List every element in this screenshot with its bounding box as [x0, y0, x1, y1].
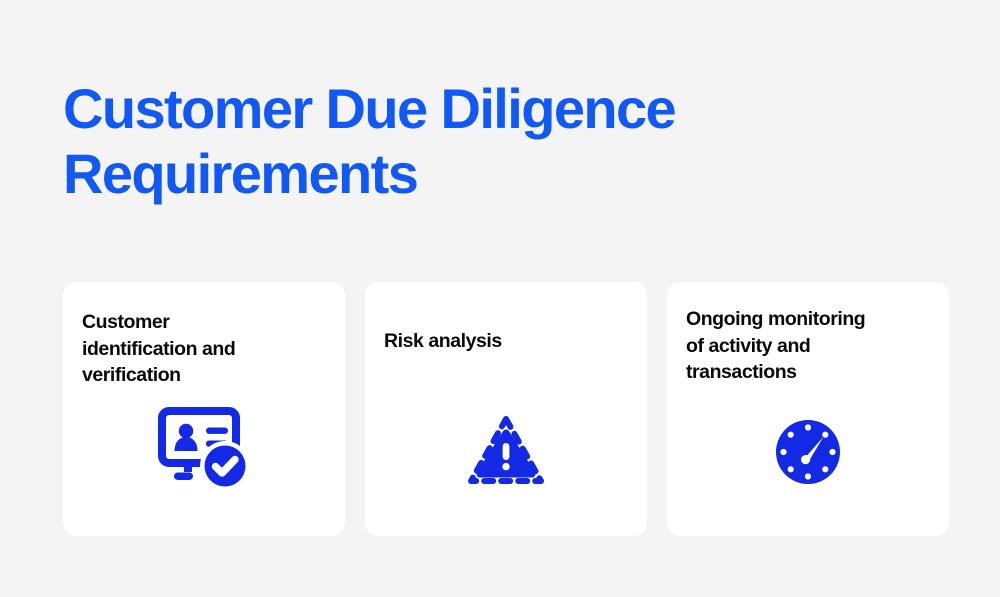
gauge-speedometer-icon [773, 417, 843, 487]
card-title: Risk analysis [384, 328, 633, 355]
id-card-verified-icon [156, 406, 252, 490]
card-icon-slot [667, 408, 949, 496]
requirement-card-ongoing-monitoring: Ongoing monitoring of activity and trans… [667, 282, 949, 536]
card-icon-slot [63, 400, 345, 496]
card-title: Ongoing monitoring of activity and trans… [686, 306, 935, 386]
requirements-card-list: Customer identification and verification [63, 282, 949, 536]
page-title: Customer Due Diligence Requirements [63, 76, 823, 206]
requirement-card-risk-analysis: Risk analysis [365, 282, 647, 536]
card-title: Customer identification and verification [82, 309, 331, 389]
card-icon-slot [365, 406, 647, 498]
requirement-card-customer-identification: Customer identification and verification [63, 282, 345, 536]
warning-triangle-icon [465, 412, 547, 492]
infographic-page: Customer Due Diligence Requirements Cust… [0, 0, 1000, 597]
